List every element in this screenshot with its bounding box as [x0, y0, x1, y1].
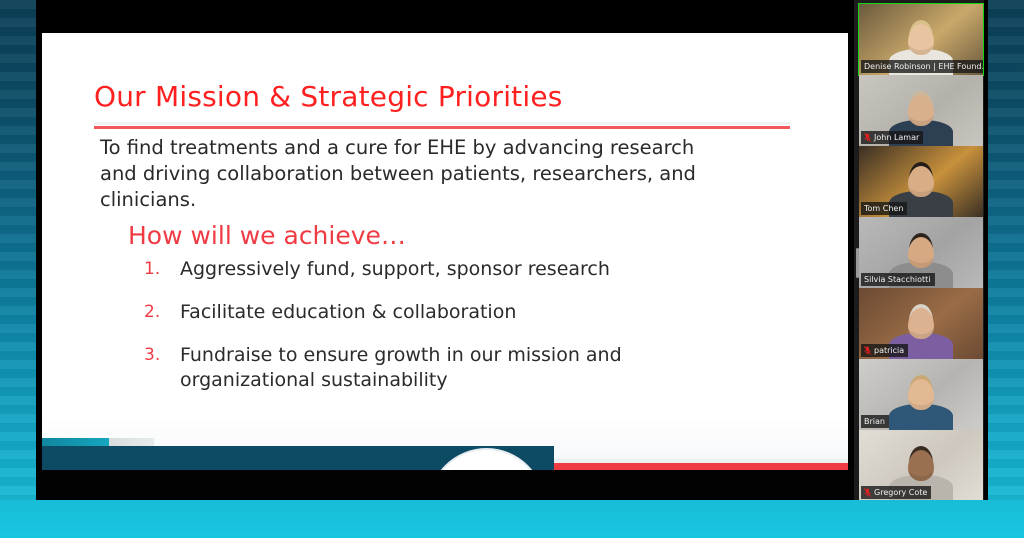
participant-tile[interactable]: Silvia Stacchiotti	[859, 217, 983, 288]
participant-name: John Lamar	[874, 132, 919, 143]
participant-name-badge: John Lamar	[861, 131, 923, 144]
participant-head	[908, 166, 934, 197]
participant-head	[908, 24, 934, 55]
participant-tile[interactable]: Brian	[859, 359, 983, 430]
participant-name: Tom Chen	[864, 203, 903, 214]
participant-name-badge: Silvia Stacchiotti	[861, 273, 935, 286]
priority-text: Facilitate education & collaboration	[180, 301, 516, 323]
logo-svg: THE EHE FOUNDATION	[430, 450, 543, 470]
participant-name-badge: Gregory Cote	[861, 486, 931, 499]
decorative-bottom-cyan-bar	[0, 500, 1024, 538]
muted-microphone-icon	[864, 488, 871, 497]
participant-head	[908, 95, 934, 126]
participant-tile[interactable]: patricia	[859, 288, 983, 359]
banner-title: Scientific & Medical Advisory Board	[90, 466, 418, 470]
participant-head	[908, 308, 934, 339]
participant-name-badge: Tom Chen	[861, 202, 907, 215]
decorative-right-gradient-stripe	[988, 0, 1024, 538]
priority-list-item: 3.Fundraise to ensure growth in our miss…	[140, 343, 740, 393]
priority-text: Fundraise to ensure growth in our missio…	[180, 344, 622, 391]
participant-name-badge: patricia	[861, 344, 908, 357]
filmstrip-scrollbar[interactable]	[856, 248, 859, 278]
priority-list-item: 2.Facilitate education & collaboration	[140, 300, 740, 325]
muted-microphone-icon	[864, 133, 871, 142]
decorative-left-gradient-stripe	[0, 0, 36, 538]
letterbox-top	[36, 0, 854, 33]
muted-microphone-icon	[864, 346, 871, 355]
participant-head	[908, 237, 934, 268]
participant-name: patricia	[874, 345, 904, 356]
screenshot-root: Our Mission & Strategic Priorities To fi…	[0, 0, 1024, 538]
slide-subhead: How will we achieve…	[128, 221, 406, 250]
participant-tile[interactable]: Denise Robinson | EHE Found…	[859, 4, 983, 75]
logo-artwork: THE EHE FOUNDATION	[430, 450, 543, 470]
participant-name-badge: Brian	[861, 415, 889, 428]
priority-number: 3.	[144, 343, 160, 368]
participant-name: Silvia Stacchiotti	[864, 274, 931, 285]
shared-screen-slide[interactable]: Our Mission & Strategic Priorities To fi…	[42, 33, 848, 470]
priority-text: Aggressively fund, support, sponsor rese…	[180, 258, 610, 280]
participant-tile[interactable]: Gregory Cote	[859, 430, 983, 501]
letterbox-bottom	[36, 470, 854, 500]
filmstrip-right-edge	[984, 0, 988, 500]
ehe-foundation-logo: THE EHE FOUNDATION	[430, 450, 543, 470]
priority-list-item: 1.Aggressively fund, support, sponsor re…	[140, 257, 740, 282]
participant-filmstrip[interactable]: Denise Robinson | EHE Found…John LamarTo…	[854, 0, 988, 500]
slide-title: Our Mission & Strategic Priorities	[94, 80, 563, 113]
participant-name-badge: Denise Robinson | EHE Found…	[861, 60, 983, 73]
priority-number: 2.	[144, 300, 160, 325]
participant-tile[interactable]: Tom Chen	[859, 146, 983, 217]
participant-name: Brian	[864, 416, 885, 427]
participant-name: Gregory Cote	[874, 487, 927, 498]
banner-line-1: Scientific & Medical	[90, 466, 418, 470]
mission-statement: To find treatments and a cure for EHE by…	[100, 135, 700, 213]
strategic-priorities-list: 1.Aggressively fund, support, sponsor re…	[140, 257, 740, 411]
title-underline-rule	[94, 126, 790, 129]
participant-head	[908, 450, 934, 481]
priority-number: 1.	[144, 257, 160, 282]
participant-name: Denise Robinson | EHE Found…	[864, 61, 983, 72]
participant-tile[interactable]: John Lamar	[859, 75, 983, 146]
participant-head	[908, 379, 934, 410]
